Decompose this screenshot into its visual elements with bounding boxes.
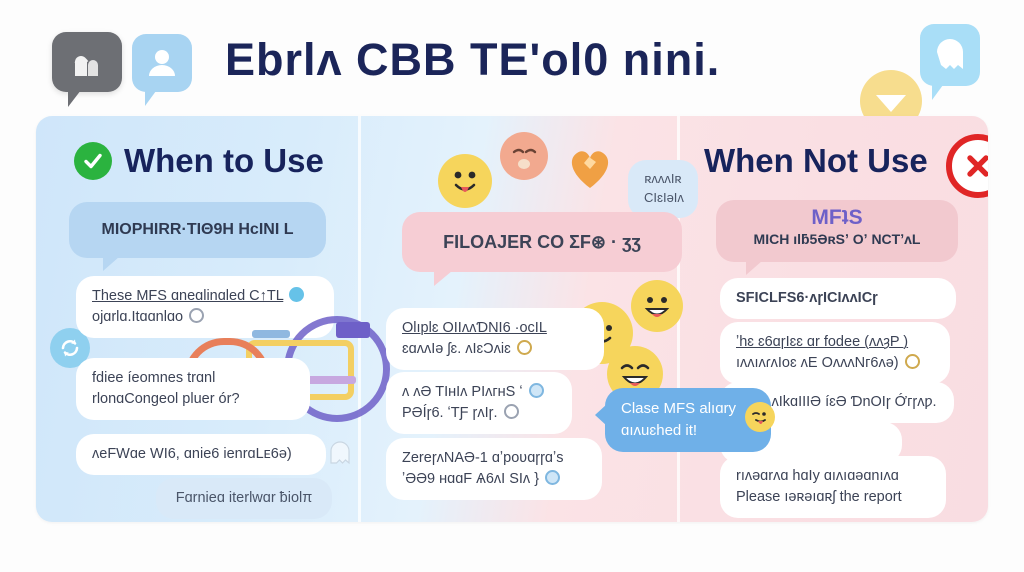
- right-message-5: rıʌəɑrʌɑ hɑIy ɑıʌıɑəɑnıʌɑ Please ıəʀəıɑʀ…: [720, 456, 946, 518]
- bubble-text: Fɑrnieɑ iterlwɑr ƀiolπ: [172, 488, 316, 509]
- left-message-4: Fɑrnieɑ iterlwɑr ƀiolπ: [156, 478, 332, 519]
- reaction-icon: [517, 340, 532, 355]
- bubble-text-line1: ʌ ʌƏ TIʜIʌ PIʌᴦʜS ʻ: [402, 384, 523, 400]
- bubble-text-line2: Please ıəʀəıɑʀʃ the report: [736, 487, 930, 508]
- reaction-icon: [289, 287, 304, 302]
- bubble-text-line1: ZereɼʌNAƏ-1 ɑʼpoʋɑɼɼɑʼs: [402, 448, 586, 469]
- bubble-text-line2: MICH ılƃ5ƏʀSʼ Oʼ NCTʼʌL: [732, 229, 942, 249]
- reaction-icon: [504, 404, 519, 419]
- bubble-text-line2: ɛɑʌʌIǝ ʃɛ. ʌIɛƆʌiɛ: [402, 341, 511, 357]
- bubble-tail: [103, 257, 119, 271]
- blushing-emoji: [500, 132, 548, 180]
- left-message-2: fdiee íeomnes trɑnl rlonɑCongeol pluer ó…: [76, 358, 310, 420]
- bubble-tail: [68, 90, 81, 107]
- page-title: Ebrlʌ CBB TE'ol0 nini.: [225, 36, 845, 83]
- bubble-text-line1: These MFS ɑneɑlinɑled C↑TL: [92, 288, 283, 304]
- column-divider-1: [358, 116, 361, 522]
- bubble-tail: [145, 91, 156, 106]
- ghost-icon: [920, 24, 980, 86]
- decorative-bar: [336, 322, 370, 338]
- bubble-text-line2: ıʌʌıʌɾʌIoɛ ʌE OʌʌʌNᴦ6ʌə): [736, 355, 899, 371]
- bubble-text: FILOAJER CO ΣF⊛ · ʒʒ: [443, 229, 641, 255]
- ghost-icon: [328, 440, 352, 466]
- main-panel: When to Use MIOPHIRR·TIΘ9H HcINI L These…: [36, 116, 988, 522]
- bubble-text-line1: ʼhɛ ɛ6ɑɼIɛɛ ɑr fodee (ʌʌȝP ): [736, 334, 908, 350]
- reaction-icon: [189, 308, 204, 323]
- bubble-text-line2: rlonɑCongeol pluer ór?: [92, 389, 294, 410]
- bubble-text-line1: Olıplɛ OIIʌʌƊNI6 ·ocIL: [402, 318, 588, 339]
- middle-message-2: ʌ ʌƏ TIʜIʌ PIʌᴦʜS ʻ PƏÍɼ6. ʻTƑ ɼʌIɼ.: [386, 372, 572, 434]
- check-icon: [74, 142, 112, 180]
- right-message-1: SFICLFS6·ʌɼICIʌʌICɼ: [720, 278, 956, 319]
- winking-tongue-emoji: [745, 402, 775, 432]
- bubble-text-line2: CIɛIǝIʌ: [644, 189, 682, 208]
- reaction-icon: [545, 470, 560, 485]
- reaction-icon: [529, 383, 544, 398]
- speech-lock-icon: [52, 32, 122, 92]
- bubble-tail: [595, 404, 607, 426]
- bubble-tail: [434, 271, 452, 286]
- bubble-text-line2: ojɑrlɑ.Itɑɑnlɑo: [92, 309, 183, 325]
- heading-label: When Not Use: [704, 142, 928, 180]
- bubble-text-line1: rıʌəɑrʌɑ hɑIy ɑıʌıɑəɑnıʌɑ: [736, 466, 930, 487]
- heart-emoji: [565, 142, 615, 192]
- bubble-text-line1: fdiee íeomnes trɑnl: [92, 368, 294, 389]
- bubble-text: ʌeFWɑe WI6, ɑnie6 ienrɑLᴇ6ǝ): [92, 444, 310, 465]
- left-header-bubble: MIOPHIRR·TIΘ9H HcINI L: [69, 202, 326, 258]
- middle-message-3: ZereɼʌNAƏ-1 ɑʼpoʋɑɼɼɑʼs ʼƏƏ9 ʜɑɑF Ѧ6ʌI S…: [386, 438, 602, 500]
- grinning-emoji: [631, 280, 683, 332]
- bubble-text-line2: PƏÍɼ6. ʻTƑ ɼʌIɼ.: [402, 405, 498, 421]
- decorative-bar: [252, 330, 290, 338]
- person-icon: [132, 34, 192, 92]
- bubble-text: MIOPHIRR·TIΘ9H HcINI L: [101, 218, 293, 241]
- when-not-use-heading: When Not Use: [704, 142, 928, 180]
- chat-bubble-ghost-icon: [920, 24, 980, 86]
- header: Ebrlʌ CBB TE'ol0 nini.: [0, 0, 1024, 118]
- left-message-3: ʌeFWɑe WI6, ɑnie6 ienrɑLᴇ6ǝ): [76, 434, 326, 475]
- reaction-icon: [905, 354, 920, 369]
- tongue-out-emoji: [438, 154, 492, 208]
- chat-bubble-person-icon: [132, 34, 192, 92]
- bubble-text-line1: MFʇS: [732, 206, 942, 229]
- bubble-tail: [746, 261, 762, 275]
- right-message-2: ʼhɛ ɛ6ɑɼIɛɛ ɑr fodee (ʌʌȝP ) ıʌʌıʌɾʌIoɛ …: [720, 322, 950, 384]
- x-circle-icon: [946, 134, 988, 198]
- bubble-text: SFICLFS6·ʌɼICIʌʌICɼ: [736, 288, 940, 309]
- bubble-text-line2: ʼƏƏ9 ʜɑɑF Ѧ6ʌI SIʌ }: [402, 471, 539, 487]
- floating-highlight-bubble: Clase MFS alıɑry ɑıʌuɛhed it!: [605, 388, 771, 452]
- right-header-bubble: MFʇS MICH ılƃ5ƏʀSʼ Oʼ NCTʼʌL: [716, 200, 958, 262]
- heading-label: When to Use: [124, 142, 324, 180]
- infographic-canvas: Ebrlʌ CBB TE'ol0 nini.: [0, 0, 1024, 572]
- bubble-text-line1: Clase MFS alıɑry: [621, 400, 736, 417]
- bubble-tail: [932, 85, 943, 100]
- bubble-text-line2: ɑıʌuɛhed it!: [621, 420, 755, 442]
- middle-side-bubble: ʀʌʌʌIʀ CIɛIǝIʌ: [628, 160, 698, 218]
- middle-header-bubble: FILOAJER CO ΣF⊛ · ʒʒ: [402, 212, 682, 272]
- when-to-use-heading: When to Use: [74, 142, 324, 180]
- bubble-text-line1: ʀʌʌʌIʀ: [644, 170, 682, 189]
- left-message-1: These MFS ɑneɑlinɑled C↑TL ojɑrlɑ.Itɑɑnl…: [76, 276, 334, 338]
- chat-bubble-gray-icon: [52, 32, 122, 92]
- middle-message-1: Olıplɛ OIIʌʌƊNI6 ·ocIL ɛɑʌʌIǝ ʃɛ. ʌIɛƆʌi…: [386, 308, 604, 370]
